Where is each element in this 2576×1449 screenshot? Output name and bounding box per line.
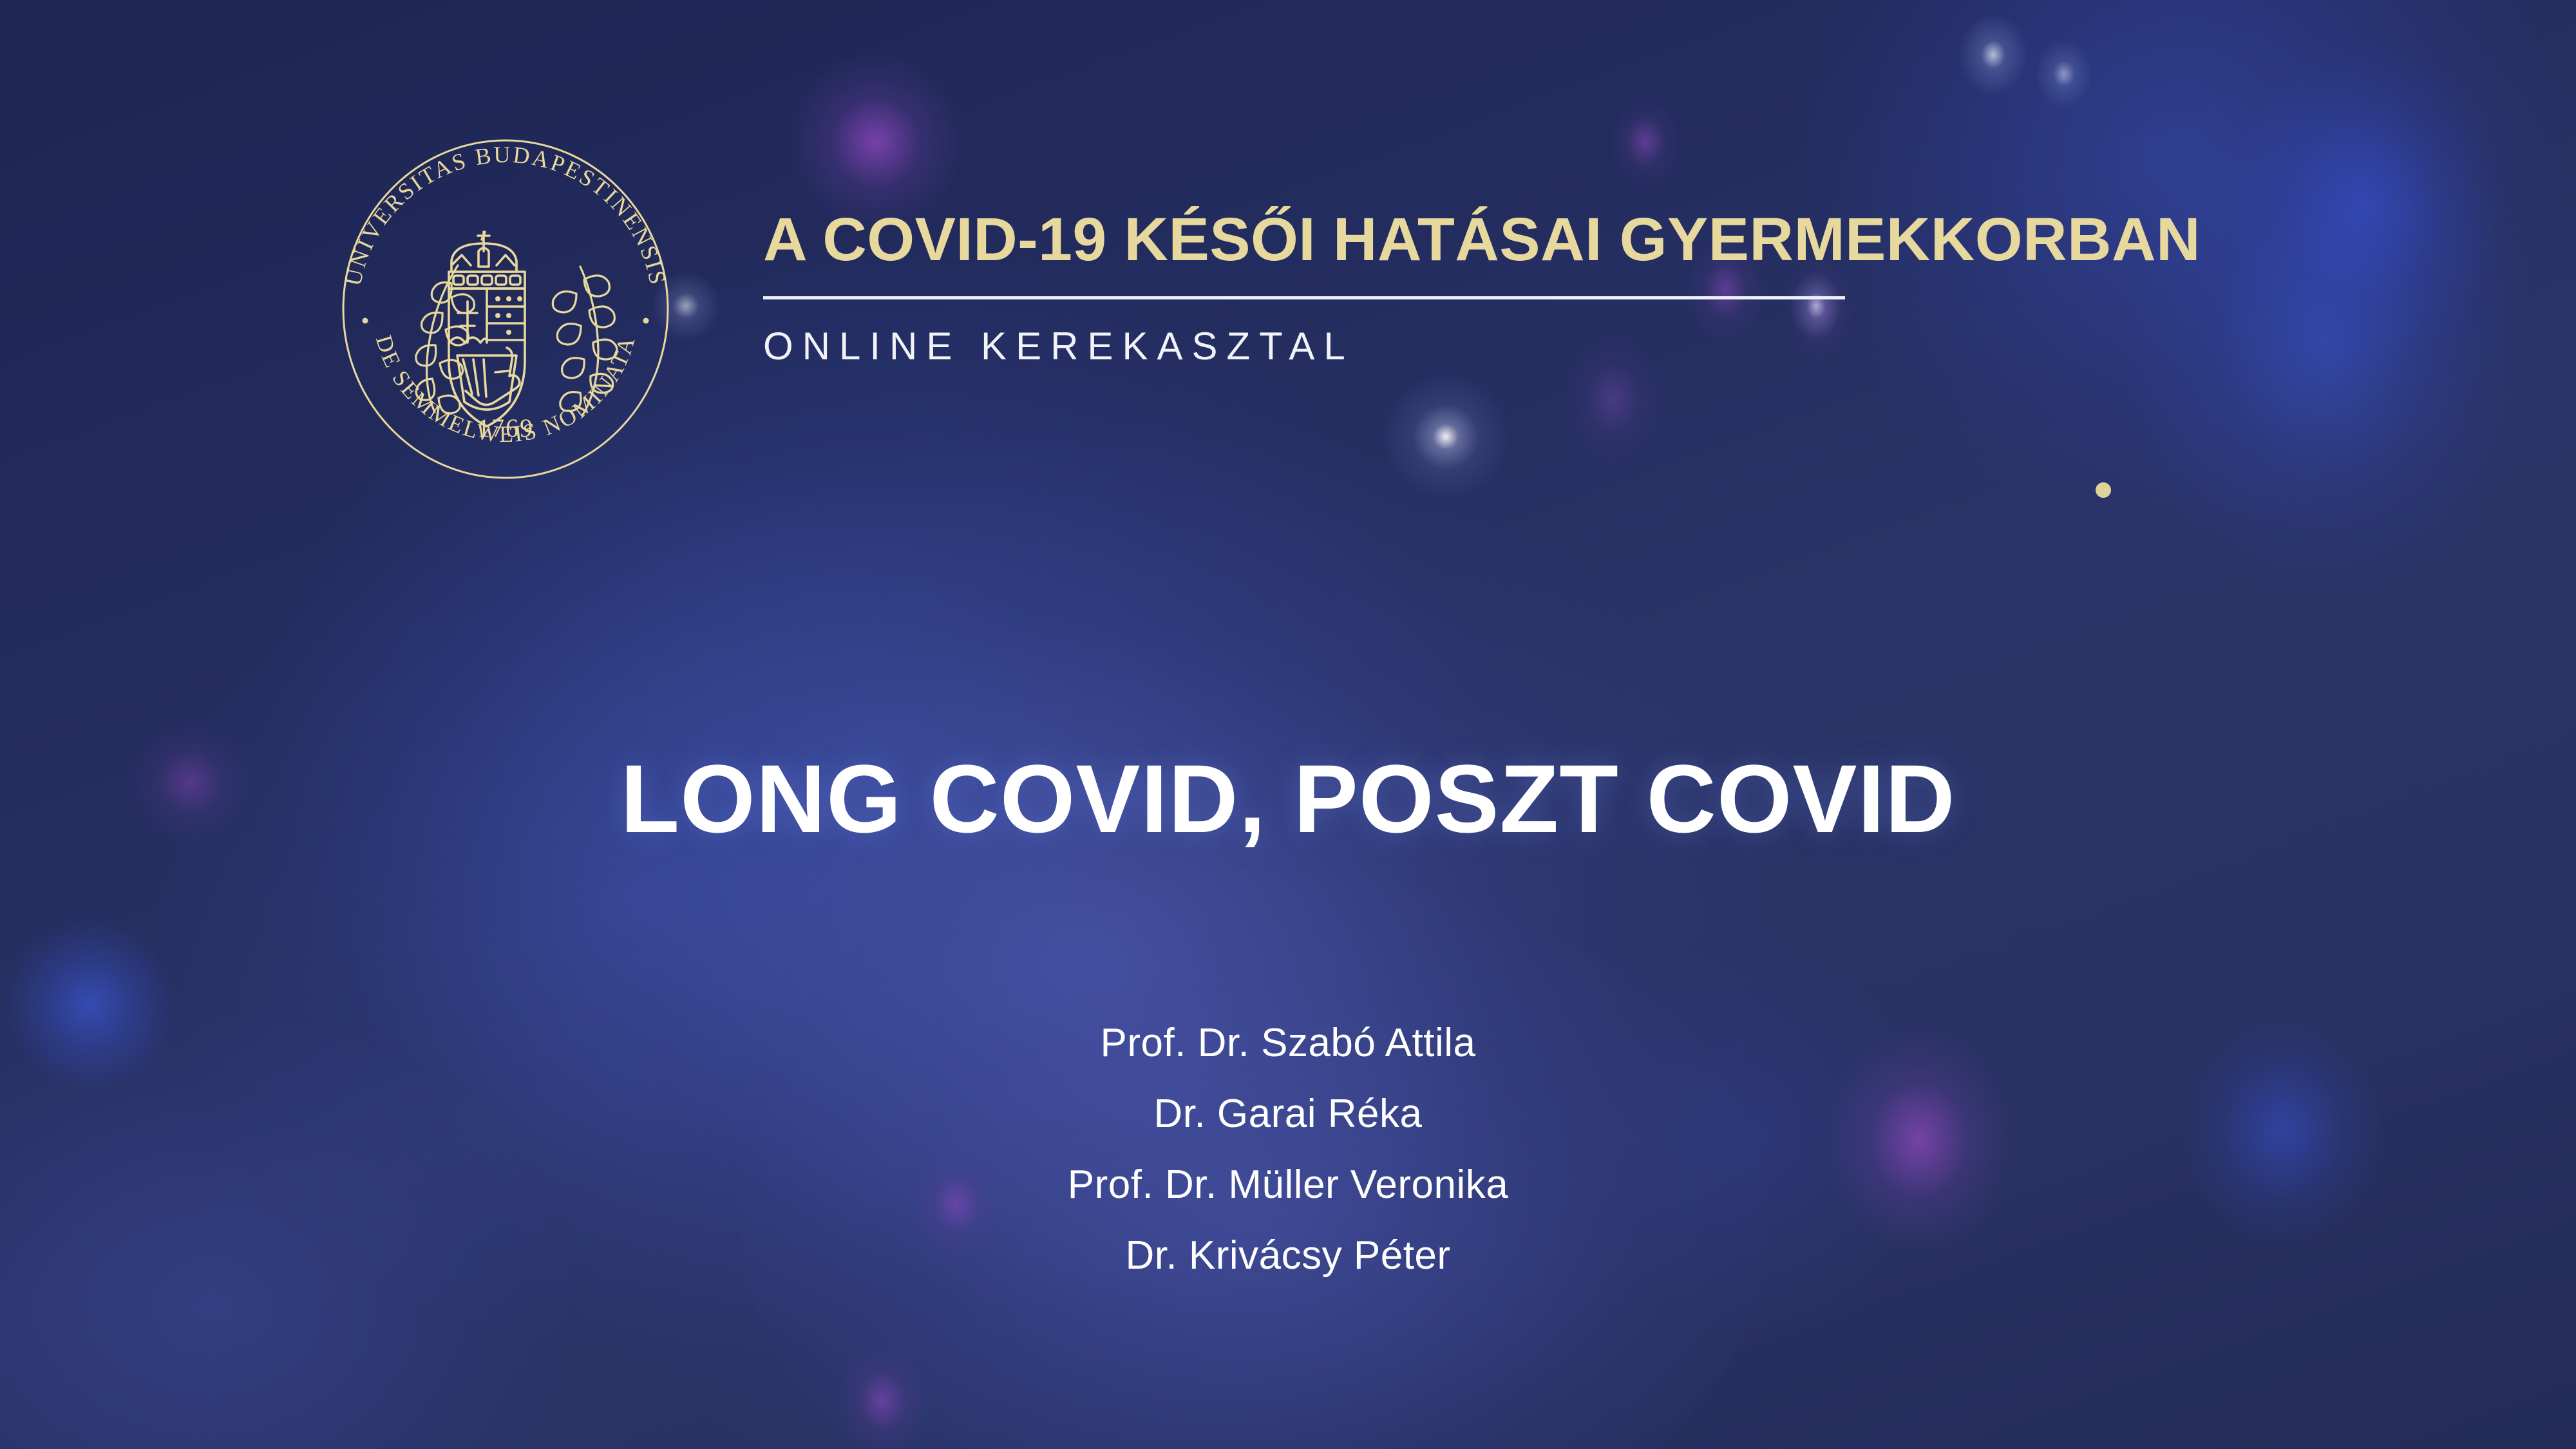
list-item: Dr. Krivácsy Péter [0,1220,2576,1291]
semmelweis-university-seal-icon: UNIVERSITAS BUDAPESTINENSIS DE SEMMELWEI… [325,129,686,489]
svg-text:1769: 1769 [477,413,534,442]
event-subtitle: ONLINE KEREKASZTAL [763,324,2309,368]
header-divider [763,296,1845,299]
header-text-block: A COVID-19 KÉSŐI HATÁSAI GYERMEKKORBAN O… [763,209,2309,368]
presenter-list: Prof. Dr. Szabó Attila Dr. Garai Réka Pr… [0,1008,2576,1291]
slide-header: UNIVERSITAS BUDAPESTINENSIS DE SEMMELWEI… [0,0,2576,451]
list-item: Prof. Dr. Szabó Attila [0,1008,2576,1079]
bokeh-purple-small-left [837,1346,927,1449]
svg-text:UNIVERSITAS BUDAPESTINENSIS: UNIVERSITAS BUDAPESTINENSIS [340,142,671,289]
list-item: Dr. Garai Réka [0,1079,2576,1150]
page-title: LONG COVID, POSZT COVID [0,750,2576,847]
dot-gold-right [2096,482,2111,498]
list-item: Prof. Dr. Müller Veronika [0,1150,2576,1220]
presentation-slide: UNIVERSITAS BUDAPESTINENSIS DE SEMMELWEI… [0,0,2576,1449]
event-title: A COVID-19 KÉSŐI HATÁSAI GYERMEKKORBAN [763,209,2309,270]
